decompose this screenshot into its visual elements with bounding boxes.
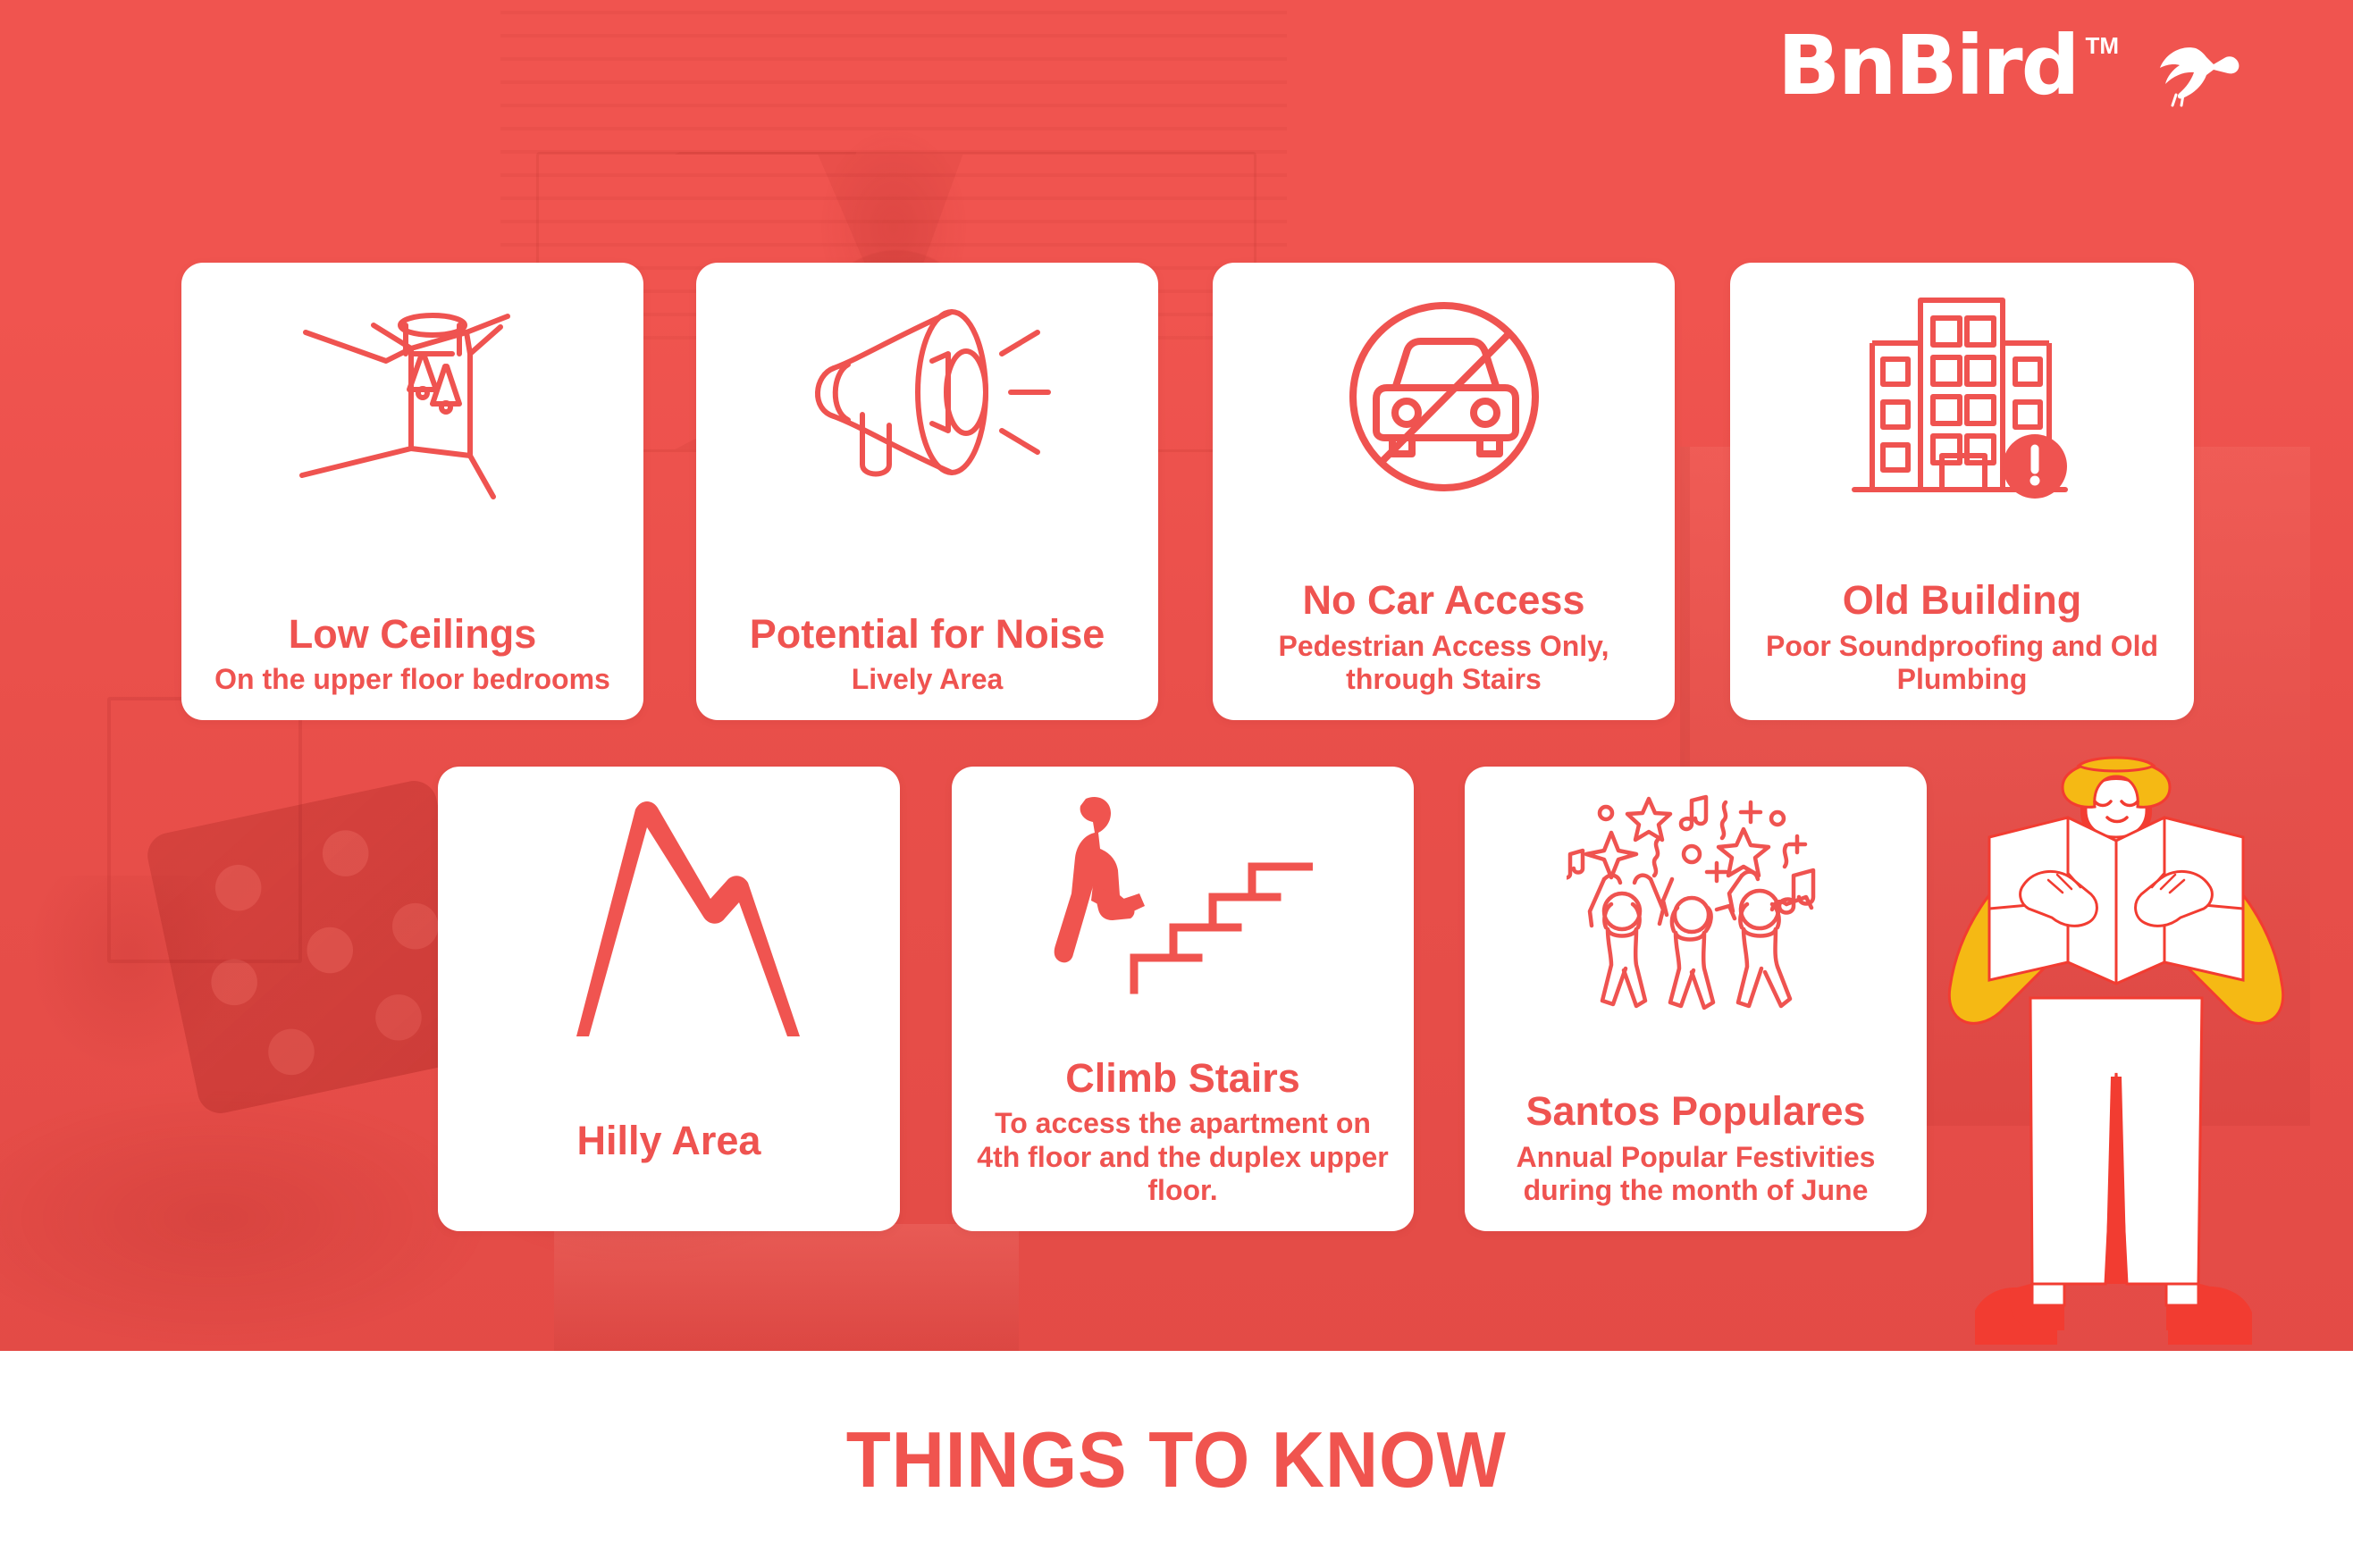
- card-title: Hilly Area: [577, 1119, 761, 1161]
- card-title: Old Building: [1843, 579, 2081, 621]
- info-card-hilly-area[interactable]: Hilly Area: [438, 767, 900, 1231]
- card-subtitle: Annual Popular Festivities during the mo…: [1484, 1141, 1907, 1209]
- info-card-climb-stairs[interactable]: Climb Stairs To access the apartment on …: [952, 767, 1414, 1231]
- page-title: THINGS TO KNOW: [846, 1414, 1507, 1505]
- brand-logo[interactable]: BnBird TM: [1777, 25, 2240, 112]
- card-subtitle: Poor Soundproofing and Old Plumbing: [1750, 630, 2174, 698]
- megaphone-icon: [798, 289, 1057, 504]
- card-title: Santos Populares: [1525, 1090, 1865, 1132]
- low-ceiling-lamp-icon: [279, 289, 547, 513]
- info-card-potential-for-noise[interactable]: Potential for Noise Lively Area: [696, 263, 1158, 720]
- background-photo-texture-lamp: [27, 876, 232, 1072]
- info-card-old-building[interactable]: Old Building Poor Soundproofing and Old …: [1730, 263, 2194, 720]
- card-title: Potential for Noise: [750, 613, 1105, 655]
- info-card-no-car-access[interactable]: No Car Access Pedestrian Access Only, th…: [1213, 263, 1675, 720]
- woman-reading-map-illustration: [1937, 755, 2295, 1351]
- card-title: Low Ceilings: [289, 613, 537, 655]
- card-subtitle: Pedestrian Access Only, through Stairs: [1232, 630, 1655, 698]
- trademark-symbol: TM: [2085, 34, 2119, 57]
- old-building-alert-icon: [1842, 289, 2083, 513]
- brand-name: BnBird: [1777, 25, 2079, 107]
- footer-bar: THINGS TO KNOW: [0, 1351, 2353, 1568]
- hero-panel: BnBird TM: [0, 0, 2353, 1351]
- background-photo-texture-table: [554, 1224, 1019, 1351]
- card-subtitle: Lively Area: [852, 663, 1004, 697]
- dancing-people-celebration-icon: [1567, 793, 1826, 1017]
- no-car-icon: [1337, 289, 1551, 504]
- card-title: No Car Access: [1303, 579, 1585, 621]
- background-photo-texture-frame: [107, 697, 302, 963]
- mountain-icon: [535, 793, 803, 1052]
- bird-icon: [2142, 43, 2240, 112]
- info-card-low-ceilings[interactable]: Low Ceilings On the upper floor bedrooms: [181, 263, 643, 720]
- card-subtitle: On the upper floor bedrooms: [214, 663, 610, 697]
- card-title: Climb Stairs: [1065, 1057, 1300, 1099]
- card-subtitle: To access the apartment on 4th floor and…: [971, 1107, 1394, 1208]
- info-card-santos-populares[interactable]: Santos Populares Annual Popular Festivit…: [1465, 767, 1927, 1231]
- person-climbing-stairs-icon: [1054, 793, 1313, 999]
